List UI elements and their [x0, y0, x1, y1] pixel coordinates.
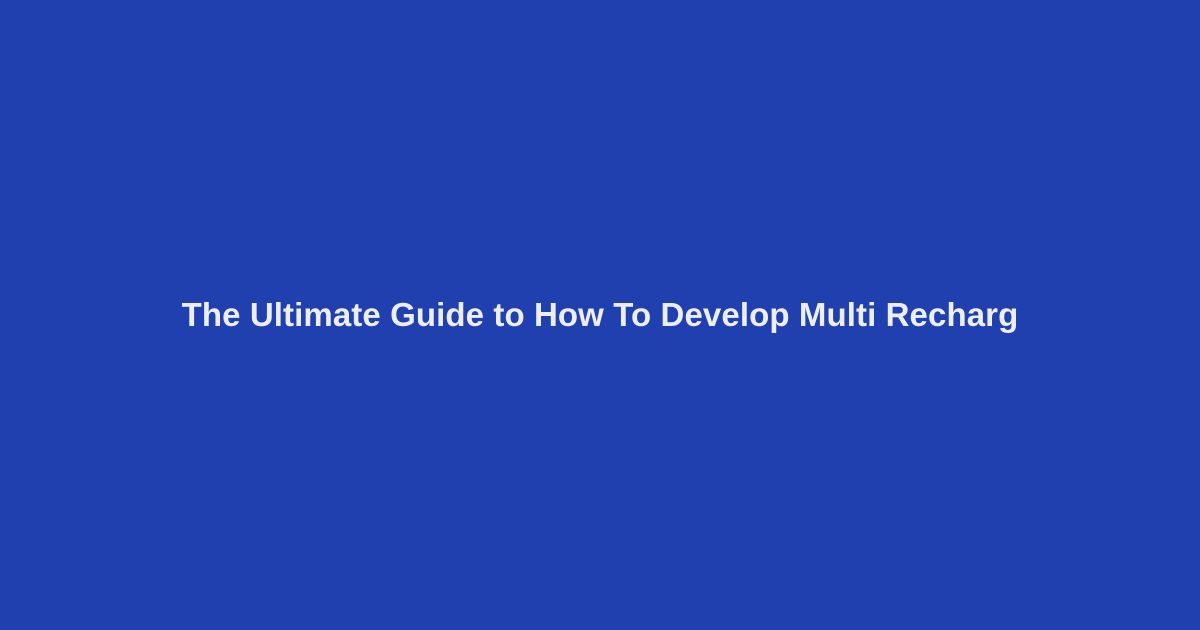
- social-share-card: The Ultimate Guide to How To Develop Mul…: [0, 0, 1200, 630]
- page-title: The Ultimate Guide to How To Develop Mul…: [40, 293, 1160, 337]
- card-content-wrapper: The Ultimate Guide to How To Develop Mul…: [40, 293, 1160, 337]
